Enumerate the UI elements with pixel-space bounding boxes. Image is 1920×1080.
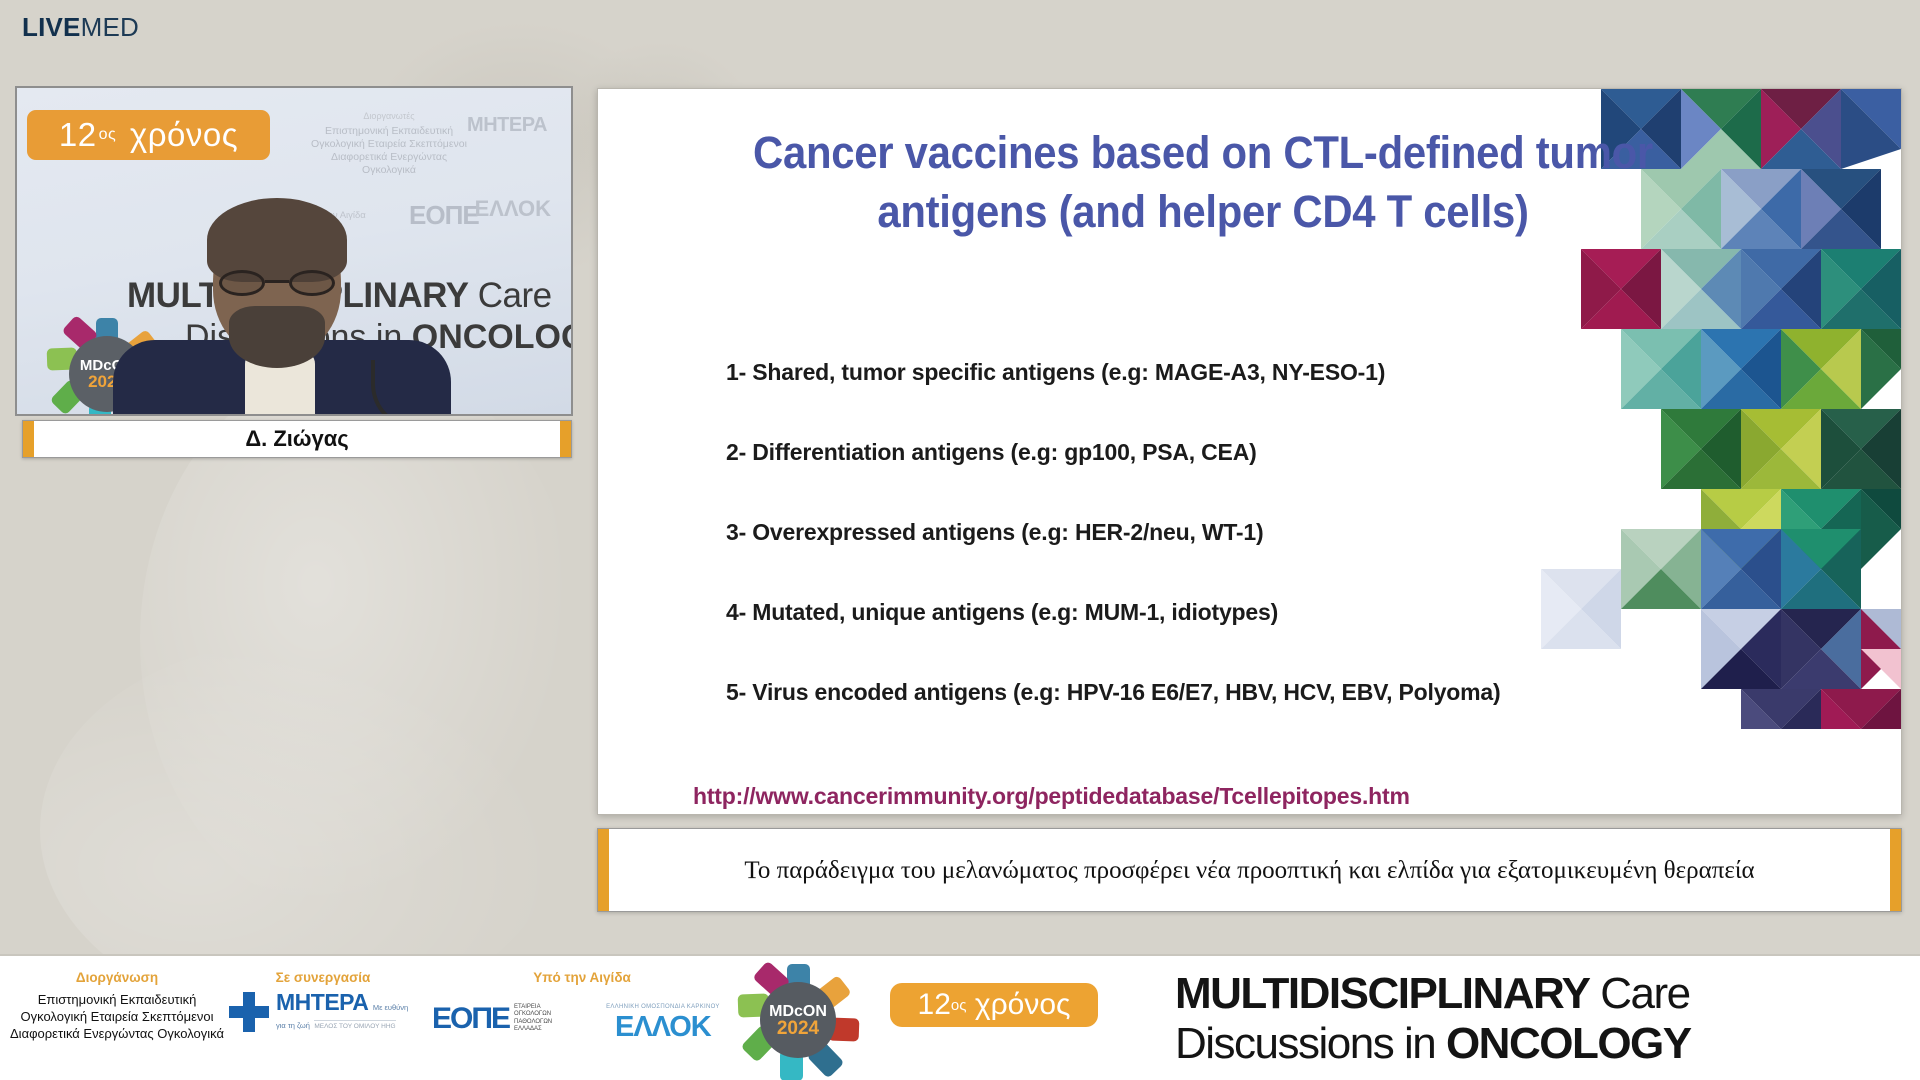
aegis-logo-row: ΕΟΠΕ ΕΤΑΙΡΕΙΑ ΟΓΚΟΛΟΓΩΝ ΠΑΘΟΛΟΓΩΝ ΕΛΛΑΔΑ… [432,995,732,1042]
mdcon-wheel-year: 2024 [777,1020,819,1037]
list-item: 4- Mutated, unique antigens (e.g: MUM-1,… [726,599,1806,626]
mitera-subline: ΜΕΛΟΣ ΤΟΥ ΟΜΙΛΟΥ HHG [314,1020,395,1030]
footer-aegis-column: Υπό την Αιγίδα ΕΟΠΕ ΕΤΑΙΡΕΙΑ ΟΓΚΟΛΟΓΩΝ Π… [432,970,732,1042]
list-item: 1- Shared, tumor specific antigens (e.g:… [726,359,1806,386]
speaker-name-plate: Δ. Ζιώγας [22,420,572,458]
video-organizer-block: Διοργανωτές Επιστημονική Εκπαιδευτική Ογ… [309,110,469,177]
brand-med-text: MED [81,12,139,42]
video-eope-logo: ΕΟΠΕ [409,200,479,231]
video-badge-sup: ος [99,126,117,144]
year-badge-word: χρόνος [975,988,1071,1022]
name-plate-right-accent [560,421,571,457]
conference-title-oncology: ONCOLOGY [1446,1019,1691,1068]
eope-logo[interactable]: ΕΟΠΕ ΕΤΑΙΡΕΙΑ ΟΓΚΟΛΟΓΩΝ ΠΑΘΟΛΟΓΩΝ ΕΛΛΑΔΑ… [432,1004,572,1034]
greek-caption-banner: Το παράδειγμα του μελανώματος προσφέρει … [597,828,1902,912]
eope-subtitle: ΕΤΑΙΡΕΙΑ ΟΓΚΟΛΟΓΩΝ ΠΑΘΟΛΟΓΩΝ ΕΛΛΑΔΑΣ [514,1004,572,1034]
caption-right-accent [1890,829,1901,911]
speaker-beard [229,306,325,368]
conference-title-line1: MULTIDISCIPLINARY Care [1175,972,1915,1016]
mitera-text-block: ΜΗΤΕΡΑ Με ευθύνη για τη ζωή ΜΕΛΟΣ ΤΟΥ ΟΜ… [276,991,418,1033]
video-badge-number: 12 [59,116,97,154]
speaker-glasses [217,270,337,296]
speaker-video-player[interactable]: 12ος χρόνος Διοργανωτές Επιστημονική Εκπ… [15,86,573,416]
video-organizer-lines: Επιστημονική Εκπαιδευτική Ογκολογική Ετα… [311,125,467,176]
livemed-logo[interactable]: LIVEMED [22,14,139,40]
list-item: 3- Overexpressed antigens (e.g: HER-2/ne… [726,519,1806,546]
video-frame: 12ος χρόνος Διοργανωτές Επιστημονική Εκπ… [17,88,571,414]
conference-title-block: MULTIDISCIPLINARY Care Discussions in ON… [1175,972,1915,1066]
video-ellok-logo: ΕΛΛΟΚ [475,196,551,222]
footer-organizer-column: Διοργάνωση Επιστημονική Εκπαιδευτική Ογκ… [8,970,226,1042]
slide-reference-url[interactable]: http://www.cancerimmunity.org/peptidedat… [693,783,1410,810]
footer-organizer-kicker: Διοργάνωση [8,970,226,985]
conference-title-line2: Discussions in ONCOLOGY [1175,1022,1915,1066]
year-badge-sup: ος [951,997,967,1014]
conference-title-discussions: Discussions in [1175,1019,1446,1068]
presentation-slide[interactable]: Cancer vaccines based on CTL-defined tum… [597,88,1902,815]
ellok-logo[interactable]: ΕΛΛΗΝΙΚΗ ΟΜΟΣΠΟΝΔΙΑ ΚΑΡΚΙΝΟΥ ΕΛΛΟΚ [594,995,732,1042]
mdcon-wheel-hub: MDcON 2024 [760,982,836,1058]
brand-live-text: LIVE [22,12,81,42]
conference-title-multidisciplinary: MULTIDISCIPLINARY [1175,969,1589,1018]
mitera-logo[interactable]: ΜΗΤΕΡΑ Με ευθύνη για τη ζωή ΜΕΛΟΣ ΤΟΥ ΟΜ… [228,991,418,1033]
video-organizer-kicker: Διοργανωτές [309,110,469,123]
caption-left-accent [598,829,609,911]
eope-mark: ΕΟΠΕ [432,1004,509,1034]
slide-antigen-list: 1- Shared, tumor specific antigens (e.g:… [726,359,1806,759]
video-badge-word: χρόνος [130,116,238,154]
slide-title: Cancer vaccines based on CTL-defined tum… [696,123,1710,241]
sponsor-footer-bar: Διοργάνωση Επιστημονική Εκπαιδευτική Ογκ… [0,954,1920,1080]
mdcon-wheel-logo[interactable]: MDcON 2024 [742,964,854,1076]
conference-title-care: Care [1589,969,1689,1018]
video-year-badge: 12ος χρόνος [27,110,270,160]
name-plate-left-accent [23,421,34,457]
video-conf-title-thin: Care [468,276,551,315]
footer-cooperation-kicker: Σε συνεργασία [228,970,418,985]
ellok-subtitle: ΕΛΛΗΝΙΚΗ ΟΜΟΣΠΟΝΔΙΑ ΚΑΡΚΙΝΟΥ [606,1004,720,1010]
footer-organizer-name: Επιστημονική Εκπαιδευτική Ογκολογική Ετα… [8,991,226,1042]
caption-text: Το παράδειγμα του μελανώματος προσφέρει … [609,829,1890,911]
speaker-name-text: Δ. Ζιώγας [34,421,560,457]
footer-aegis-kicker: Υπό την Αιγίδα [432,970,732,985]
list-item: 5- Virus encoded antigens (e.g: HPV-16 E… [726,679,1806,706]
year-badge-number: 12 [918,988,951,1022]
video-mitera-logo: ΜΗΤΕΡΑ [467,114,547,137]
microphone-icon [371,360,437,416]
medical-cross-icon [228,991,270,1033]
mitera-name: ΜΗΤΕΡΑ [276,989,368,1015]
footer-cooperation-column: Σε συνεργασία ΜΗΤΕΡΑ Με ευθύνη για τη ζω… [228,970,418,1033]
ellok-mark: ΕΛΛΟΚ [615,1011,711,1043]
top-bar: LIVEMED [0,0,1920,68]
list-item: 2- Differentiation antigens (e.g: gp100,… [726,439,1806,466]
year-edition-badge: 12ος χρόνος [890,983,1098,1027]
